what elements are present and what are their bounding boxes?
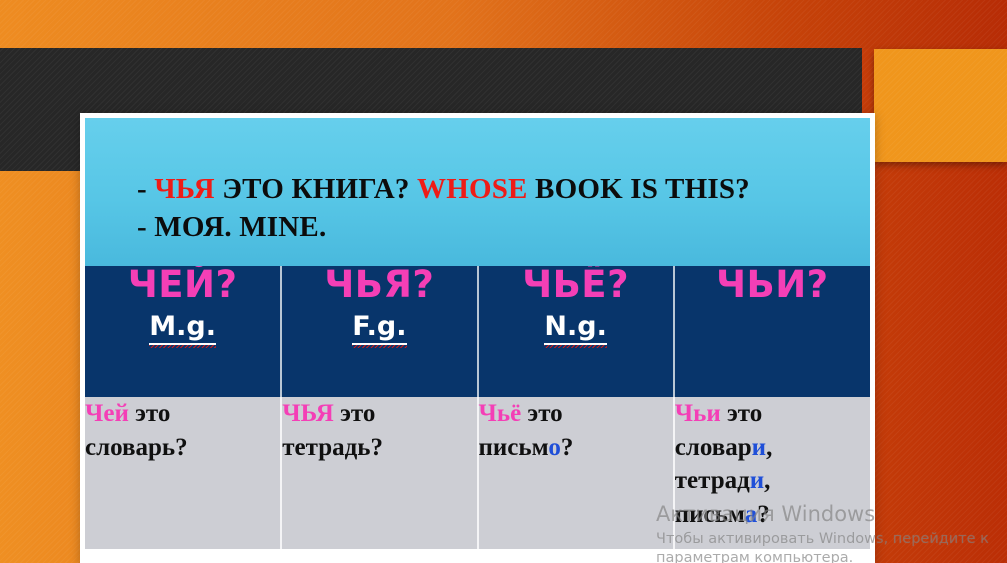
cell-text-line: письма?	[675, 498, 870, 532]
cell-text-fragment: Чьё	[479, 400, 522, 427]
cell-text-line: словарь?	[85, 431, 280, 465]
header-gender-masculine: M.g.	[149, 312, 216, 345]
table-cell-example-feminine: ЧЬЯ этотетрадь?	[281, 397, 477, 549]
headline-keyword-en: WHOSE	[417, 173, 528, 205]
headline-banner: - ЧЬЯ ЭТО КНИГА? WHOSE BOOK IS THIS? - М…	[85, 118, 870, 266]
table-header-cell-plural: ЧЬИ?	[674, 266, 870, 397]
cell-text-fragment: ?	[757, 501, 770, 528]
presentation-slide: - ЧЬЯ ЭТО КНИГА? WHOSE BOOK IS THIS? - М…	[0, 0, 1007, 563]
cell-text-line: Чей это	[85, 397, 280, 431]
table-cell-example-neuter: Чьё этописьмо?	[478, 397, 674, 549]
header-question-feminine: ЧЬЯ?	[282, 266, 476, 305]
header-gender-neuter: N.g.	[544, 312, 606, 345]
table-header-row: ЧЕЙ? M.g. ЧЬЯ? F.g. ЧЬЁ? N.g. ЧЬИ?	[85, 266, 870, 397]
cell-text-fragment: ?	[561, 434, 574, 461]
table-cell-example-masculine: Чей этословарь?	[85, 397, 281, 549]
headline-line-2: - МОЯ. MINE.	[137, 208, 870, 246]
cell-text-fragment: это	[521, 400, 563, 427]
cell-text-fragment: словар	[675, 434, 752, 461]
cell-text-line: словари,	[675, 431, 870, 465]
cell-text-line: ЧЬЯ это	[282, 397, 476, 431]
table-header-cell-neuter: ЧЬЁ? N.g.	[478, 266, 674, 397]
cell-text-fragment: это	[129, 400, 171, 427]
pronoun-table: ЧЕЙ? M.g. ЧЬЯ? F.g. ЧЬЁ? N.g. ЧЬИ?	[85, 266, 870, 549]
cell-text-fragment: Чей	[85, 400, 129, 427]
headline-line-1-prefix: -	[137, 173, 154, 205]
cell-text-fragment: и	[750, 467, 764, 494]
header-gender-feminine: F.g.	[352, 312, 406, 345]
slide-content-card: - ЧЬЯ ЭТО КНИГА? WHOSE BOOK IS THIS? - М…	[80, 113, 875, 563]
cell-text-fragment: о	[548, 434, 561, 461]
header-question-neuter: ЧЬЁ?	[479, 266, 673, 305]
cell-text-fragment: и	[752, 434, 766, 461]
background-band-orange-top	[0, 0, 1007, 49]
headline-line-1-tail: BOOK IS THIS?	[528, 173, 750, 205]
table-row: Чей этословарь? ЧЬЯ этотетрадь? Чьё этоп…	[85, 397, 870, 549]
cell-text-fragment: это	[334, 400, 376, 427]
cell-text-fragment: Чьи	[675, 400, 721, 427]
cell-text-fragment: тетрадь?	[282, 434, 383, 461]
cell-text-fragment: тетрад	[675, 467, 750, 494]
cell-text-fragment: это	[721, 400, 763, 427]
table-header-cell-feminine: ЧЬЯ? F.g.	[281, 266, 477, 397]
header-question-masculine: ЧЕЙ?	[85, 266, 280, 305]
cell-text-fragment: словарь?	[85, 434, 188, 461]
cell-text-line: Чьё это	[479, 397, 673, 431]
header-question-plural: ЧЬИ?	[675, 266, 870, 305]
cell-text-fragment: ,	[766, 434, 772, 461]
background-band-dark-lower	[0, 118, 88, 171]
cell-text-fragment: ,	[764, 467, 770, 494]
table-header-cell-masculine: ЧЕЙ? M.g.	[85, 266, 281, 397]
headline-line-1: - ЧЬЯ ЭТО КНИГА? WHOSE BOOK IS THIS?	[137, 170, 870, 208]
cell-text-line: тетради,	[675, 464, 870, 498]
cell-text-line: Чьи это	[675, 397, 870, 431]
background-block-orange-right	[874, 49, 1007, 162]
background-band-dark	[0, 48, 862, 119]
headline-keyword-ru: ЧЬЯ	[154, 173, 214, 205]
headline-line-1-middle: ЭТО КНИГА?	[215, 173, 417, 205]
cell-text-fragment: а	[745, 501, 758, 528]
cell-text-fragment: письм	[479, 434, 549, 461]
table-cell-example-plural: Чьи этословари,тетради,письма?	[674, 397, 870, 549]
cell-text-line: письмо?	[479, 431, 673, 465]
cell-text-fragment: письм	[675, 501, 745, 528]
cell-text-fragment: ЧЬЯ	[282, 400, 334, 427]
cell-text-line: тетрадь?	[282, 431, 476, 465]
